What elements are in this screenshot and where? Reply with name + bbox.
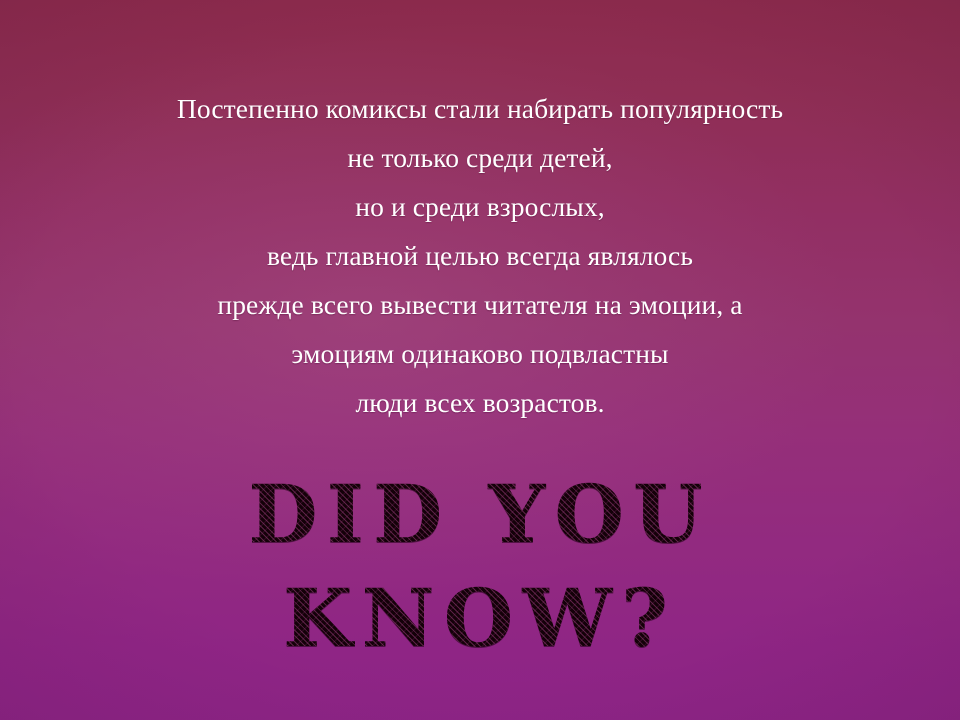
body-line-2: не только среди детей, (74, 133, 886, 182)
body-line-6: эмоциям одинаково подвластны (74, 329, 886, 378)
headline-line-1: DID YOU (0, 462, 960, 566)
body-line-3: но и среди взрослых, (74, 182, 886, 231)
presentation-slide: Постепенно комиксы стали набирать популя… (0, 0, 960, 720)
body-line-7: люди всех возрастов. (74, 378, 886, 427)
body-line-1: Постепенно комиксы стали набирать популя… (74, 84, 886, 133)
headline-did-you-know: DID YOU KNOW? (0, 462, 960, 670)
body-line-4: ведь главной целью всегда являлось (74, 231, 886, 280)
body-paragraph: Постепенно комиксы стали набирать популя… (74, 84, 886, 427)
body-line-5: прежде всего вывести читателя на эмоции,… (74, 280, 886, 329)
headline-line-2: KNOW? (0, 566, 960, 670)
